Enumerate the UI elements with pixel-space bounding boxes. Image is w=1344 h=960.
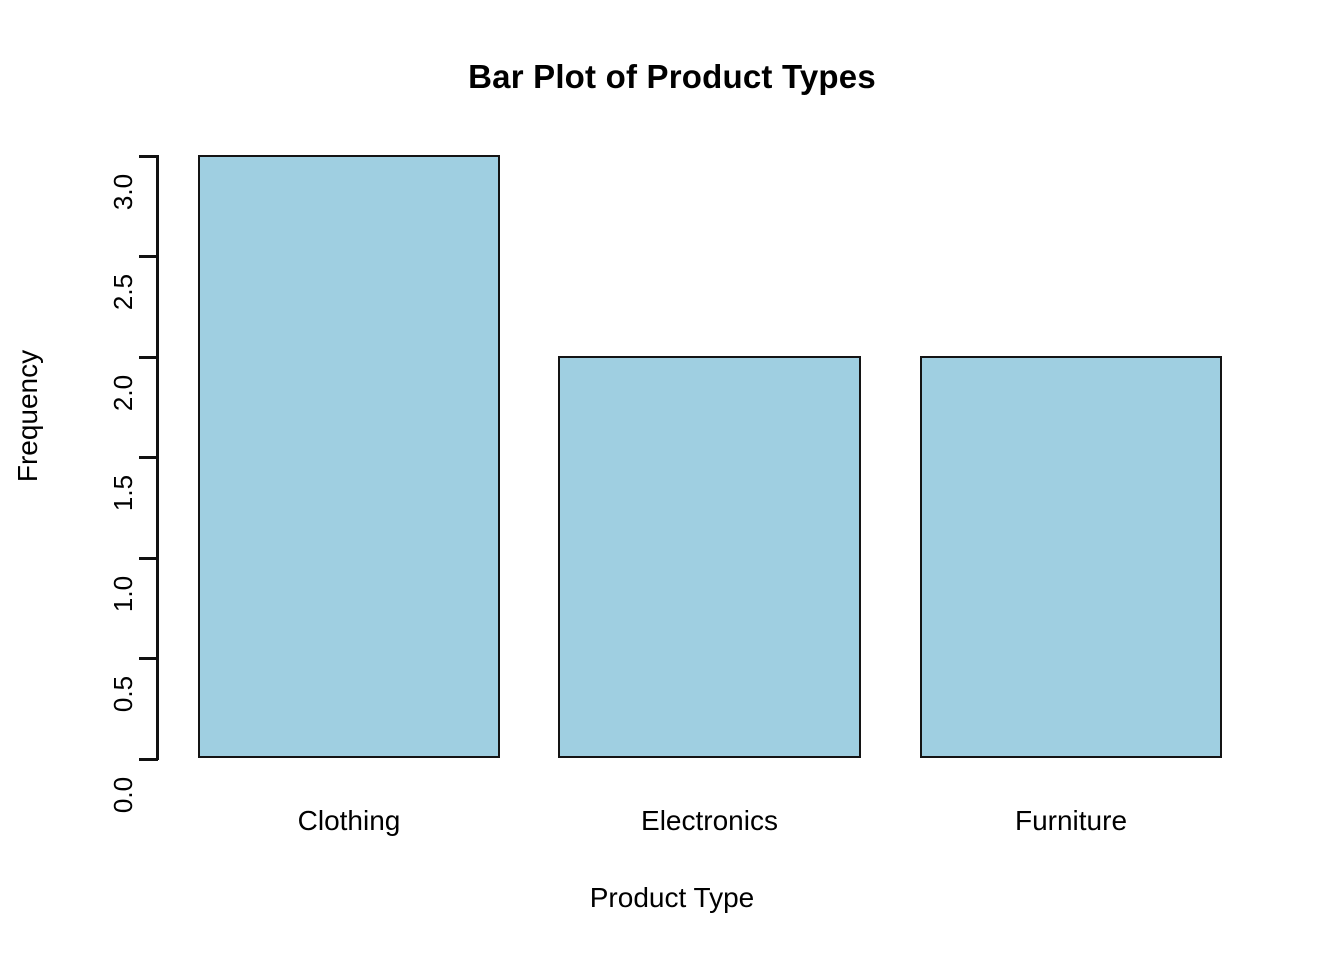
- y-axis-tick-3: [139, 456, 158, 459]
- y-axis-tick-6: [139, 155, 158, 158]
- y-axis-tick-label-3: 1.5: [110, 453, 136, 533]
- y-axis-tick-2: [139, 557, 158, 560]
- x-axis-category-label-clothing: Clothing: [198, 806, 500, 837]
- y-axis-tick-1: [139, 657, 158, 660]
- y-axis-tick-label-1: 0.5: [110, 654, 136, 734]
- bar-furniture[interactable]: [920, 356, 1222, 758]
- x-axis-category-label-furniture: Furniture: [920, 806, 1222, 837]
- y-axis-tick-label-4: 2.0: [110, 353, 136, 433]
- bar-electronics[interactable]: [558, 356, 861, 758]
- y-axis-tick-label-0: 0.0: [110, 755, 136, 835]
- y-axis-tick-0: [139, 758, 158, 761]
- plot-panel: 0.0 0.5 1.0 1.5 2.0 2.5 3.0 Frequency Cl…: [0, 0, 1344, 960]
- y-axis-tick-label-6: 3.0: [110, 152, 136, 232]
- bar-chart-canvas: Bar Plot of Product Types 0.0 0.5 1.0 1.…: [0, 0, 1344, 960]
- x-axis-category-label-electronics: Electronics: [558, 806, 861, 837]
- y-axis-tick-label-2: 1.0: [110, 554, 136, 634]
- y-axis-tick-5: [139, 255, 158, 258]
- x-axis-title: Product Type: [0, 882, 1344, 914]
- y-axis-title: Frequency: [12, 346, 44, 486]
- y-axis-tick-4: [139, 356, 158, 359]
- y-axis-tick-label-5: 2.5: [110, 252, 136, 332]
- bar-clothing[interactable]: [198, 155, 500, 758]
